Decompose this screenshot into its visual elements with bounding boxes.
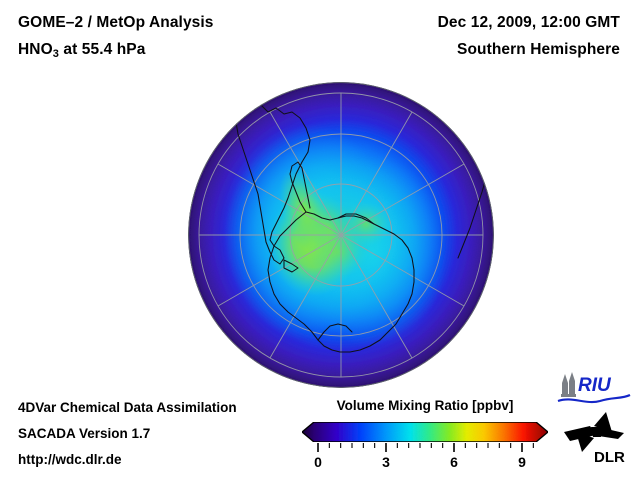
colorbar-tick-labels: 0369 bbox=[314, 454, 526, 470]
date-label: Dec 12, 2009, 12:00 GMT bbox=[438, 14, 620, 32]
colorbar-tick-label: 6 bbox=[450, 454, 458, 470]
dlr-wordmark: DLR bbox=[594, 449, 625, 466]
hno3-peak-pole bbox=[308, 226, 368, 278]
instrument-title: GOME–2 / MetOp Analysis bbox=[18, 14, 214, 32]
colorbar: Volume Mixing Ratio [ppbv] 0369 bbox=[300, 398, 550, 470]
footer-line-method: 4DVar Chemical Data Assimilation bbox=[18, 400, 237, 415]
species-title: HNO3 at 55.4 hPa bbox=[18, 41, 145, 60]
globe-disk bbox=[188, 82, 494, 388]
globe-plot bbox=[188, 82, 494, 388]
colorbar-tick-label: 3 bbox=[382, 454, 390, 470]
globe-field bbox=[188, 82, 494, 388]
riu-cathedral-icon bbox=[561, 372, 576, 397]
coastline-australia bbox=[488, 318, 494, 326]
dlr-logo: DLR bbox=[560, 410, 632, 468]
figure-root: GOME–2 / MetOp Analysis HNO3 at 55.4 hPa… bbox=[0, 0, 640, 480]
coastline-africa-north bbox=[464, 100, 478, 118]
colorbar-bar bbox=[302, 422, 548, 442]
footer-line-version: SACADA Version 1.7 bbox=[18, 426, 150, 441]
species-formula-prefix: HNO bbox=[18, 41, 53, 58]
species-level-label: at 55.4 hPa bbox=[59, 41, 146, 58]
dlr-pinwheel-icon bbox=[564, 412, 624, 452]
colorbar-title: Volume Mixing Ratio [ppbv] bbox=[300, 398, 550, 413]
colorbar-tick-label: 9 bbox=[518, 454, 526, 470]
riu-logo: RIU bbox=[556, 370, 632, 406]
hemisphere-label: Southern Hemisphere bbox=[457, 41, 620, 59]
footer-line-url[interactable]: http://wdc.dlr.de bbox=[18, 452, 122, 467]
riu-wordmark: RIU bbox=[578, 375, 612, 396]
colorbar-tick-label: 0 bbox=[314, 454, 322, 470]
colorbar-ticks bbox=[318, 443, 533, 452]
